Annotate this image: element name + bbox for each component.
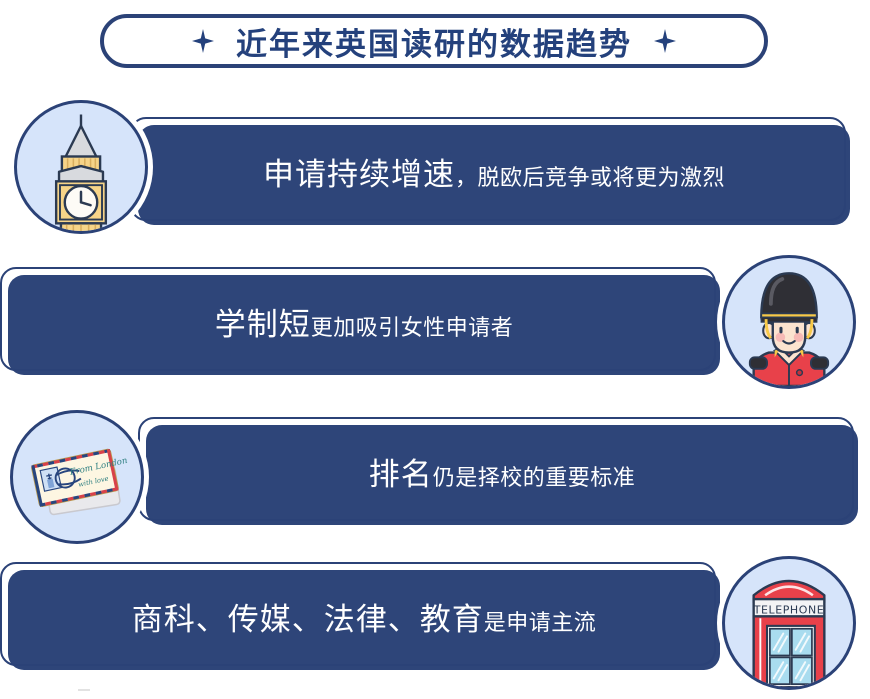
telephone-sign-text: TELEPHONE: [753, 603, 824, 616]
big-ben-icon: [14, 100, 148, 234]
telephone-booth-icon: TELEPHONE: [722, 556, 856, 690]
footer-mark: [78, 689, 90, 691]
fact-bar-1: 申请持续增速 ，脱欧后竞争或将更为激烈: [138, 125, 850, 225]
fact-bar-4-subtext: 是申请主流: [484, 613, 597, 635]
fact-bar-3-headline: 排名: [369, 460, 433, 491]
sparkle-icon: [654, 29, 676, 53]
page-title: 近年来英国读研的数据趋势: [236, 19, 632, 64]
page-title-banner: 近年来英国读研的数据趋势: [100, 14, 768, 68]
fact-bar-4-headline: 商科、传媒、法律、教育: [132, 605, 484, 636]
fact-bar-1-headline: 申请持续增速: [263, 160, 455, 191]
fact-bar-4: 商科、传媒、法律、教育 是申请主流: [8, 570, 720, 670]
fact-bar-2-headline: 学制短: [215, 310, 311, 341]
fact-bar-3-text: 排名 仍是择校的重要标准: [369, 460, 636, 491]
fact-bar-2: 学制短 更加吸引女性申请者: [8, 275, 720, 375]
fact-bar-3: 排名 仍是择校的重要标准: [146, 425, 858, 525]
fact-bar-4-text: 商科、传媒、法律、教育 是申请主流: [132, 605, 597, 636]
infographic-canvas: 近年来英国读研的数据趋势 申请持续增速 ，脱欧后竞争或将更为激烈: [0, 0, 870, 699]
fact-bar-1-subtext: ，脱欧后竞争或将更为激烈: [455, 168, 725, 190]
fact-bar-1-text: 申请持续增速 ，脱欧后竞争或将更为激烈: [263, 160, 725, 191]
fact-bar-2-text: 学制短 更加吸引女性申请者: [215, 310, 514, 341]
fact-bar-2-subtext: 更加吸引女性申请者: [311, 318, 514, 340]
royal-guard-icon: [722, 255, 856, 389]
postcard-icon: From London with love: [10, 410, 144, 544]
fact-bar-3-subtext: 仍是择校的重要标准: [433, 468, 636, 490]
sparkle-icon: [192, 29, 214, 53]
